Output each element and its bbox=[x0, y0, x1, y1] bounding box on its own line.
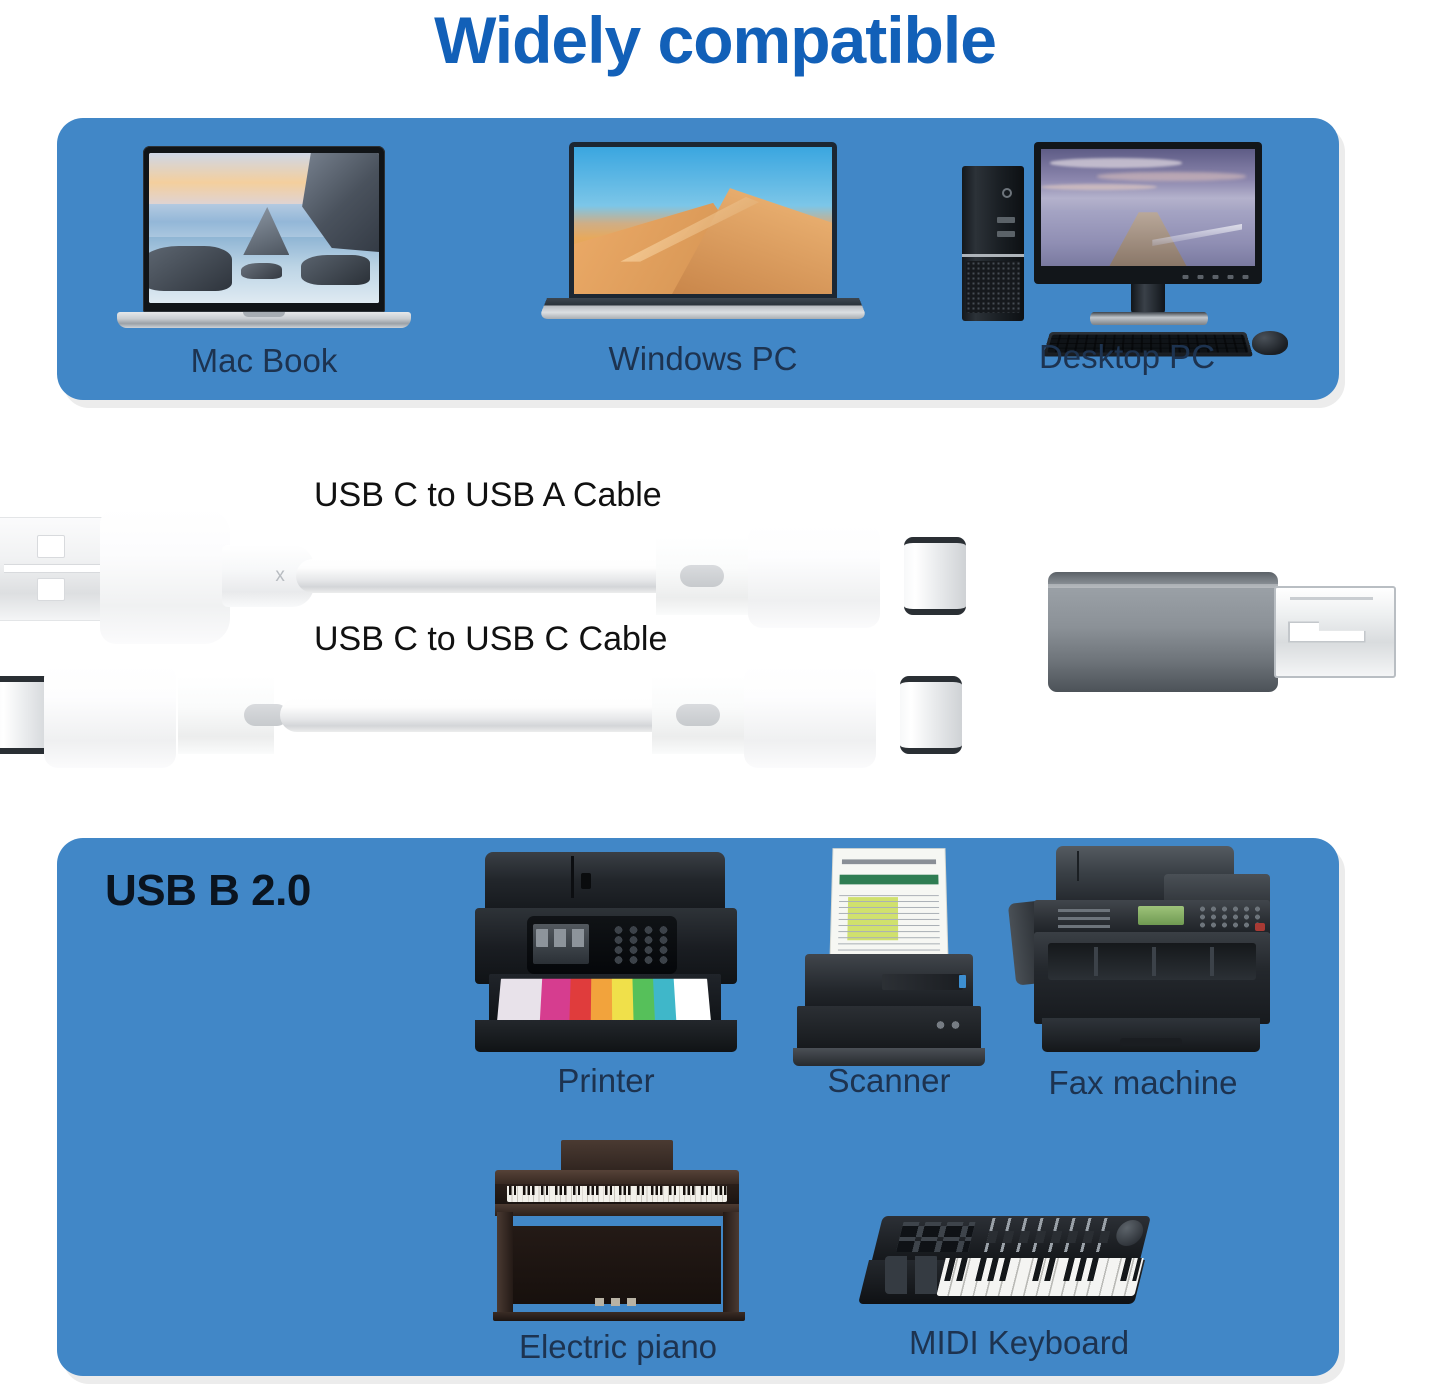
windows-laptop-keyboard-base bbox=[539, 298, 868, 319]
midi-pitch-mod-wheels bbox=[885, 1256, 939, 1294]
scanner-icon bbox=[797, 846, 981, 1066]
usb-c-connector-tip-right bbox=[900, 676, 962, 754]
device-cell-printer: Printer bbox=[475, 852, 737, 1116]
device-label-electric-piano: Electric piano bbox=[487, 1328, 749, 1366]
fax-machine-icon bbox=[1012, 846, 1274, 1056]
monitor-stand-base bbox=[1090, 312, 1208, 325]
macbook-wallpaper bbox=[149, 153, 379, 303]
device-cell-fax-machine: Fax machine bbox=[1012, 846, 1274, 1116]
device-cell-midi-keyboard: MIDI Keyboard bbox=[869, 1216, 1169, 1366]
usb-c-connector-body bbox=[748, 524, 880, 628]
device-cell-electric-piano: Electric piano bbox=[487, 1140, 749, 1366]
windows-laptop-wallpaper bbox=[574, 147, 832, 294]
compatible-computers-panel: Mac Book Windows PC bbox=[57, 118, 1339, 400]
device-label-desktop-pc: Desktop PC bbox=[962, 338, 1292, 376]
usb-c-dimple bbox=[680, 565, 724, 587]
printer-icon bbox=[475, 852, 737, 1052]
device-label-fax-machine: Fax machine bbox=[1012, 1064, 1274, 1102]
macbook-base bbox=[117, 312, 411, 328]
device-label-printer: Printer bbox=[475, 1062, 737, 1100]
cable-brand-mark: x bbox=[275, 565, 287, 587]
usb-c-to-usb-c-cable-icon bbox=[0, 650, 982, 760]
usb-b-devices-panel: USB B 2.0 bbox=[57, 838, 1339, 1376]
midi-black-keys bbox=[938, 1258, 1142, 1281]
device-cell-desktop-pc: Desktop PC bbox=[962, 142, 1292, 376]
desktop-monitor-icon bbox=[1034, 142, 1262, 284]
cable-cord bbox=[280, 698, 680, 732]
electric-piano-icon bbox=[487, 1140, 749, 1322]
midi-keyboard-icon bbox=[869, 1216, 1169, 1316]
windows-laptop-icon bbox=[547, 142, 859, 328]
macbook-laptop-icon bbox=[117, 146, 411, 328]
device-cell-macbook: Mac Book bbox=[117, 146, 411, 376]
device-cell-windows-pc: Windows PC bbox=[547, 142, 859, 376]
usb-c-to-usb-b-adapter-icon bbox=[1048, 562, 1430, 702]
adapter-metal-shell bbox=[1048, 572, 1278, 692]
device-cell-scanner: Scanner bbox=[797, 846, 981, 1116]
printed-color-page bbox=[497, 979, 711, 1022]
monitor-stand-neck bbox=[1131, 284, 1165, 314]
piano-black-keys bbox=[507, 1186, 727, 1195]
midi-encoder-knob bbox=[1113, 1220, 1145, 1246]
device-label-windows-pc: Windows PC bbox=[547, 340, 859, 378]
desktop-computer-icon bbox=[962, 142, 1292, 362]
page-title: Widely compatible bbox=[0, 2, 1430, 78]
windows-laptop-screen bbox=[569, 142, 837, 298]
scanner-document bbox=[829, 848, 948, 963]
cable-cord bbox=[296, 559, 686, 593]
midi-faders bbox=[984, 1218, 1118, 1252]
usb-c-connector-body-left bbox=[44, 664, 176, 768]
device-label-macbook: Mac Book bbox=[117, 342, 411, 380]
piano-music-stand bbox=[561, 1140, 673, 1174]
usb-c-connector-body-right bbox=[744, 664, 876, 768]
usb-a-connector bbox=[0, 517, 116, 621]
macbook-screen bbox=[143, 146, 385, 312]
fax-control-panel bbox=[1034, 900, 1270, 936]
piano-pedals bbox=[595, 1298, 643, 1306]
panel-heading-usb-b: USB B 2.0 bbox=[105, 866, 311, 916]
usb-c-dimple-right bbox=[676, 704, 720, 726]
usb-c-connector-tip bbox=[904, 537, 966, 615]
device-label-midi-keyboard: MIDI Keyboard bbox=[869, 1324, 1169, 1362]
infographic-page: Widely compatible Mac Book bbox=[0, 0, 1430, 1400]
usb-a-hood bbox=[100, 508, 230, 644]
device-label-scanner: Scanner bbox=[797, 1062, 981, 1100]
monitor-wallpaper bbox=[1041, 149, 1255, 266]
desktop-tower-icon bbox=[962, 166, 1024, 321]
midi-drum-pads bbox=[896, 1222, 975, 1252]
usb-b-male-connector bbox=[1274, 586, 1396, 678]
usb-c-to-usb-a-cable-icon: x bbox=[0, 508, 986, 630]
